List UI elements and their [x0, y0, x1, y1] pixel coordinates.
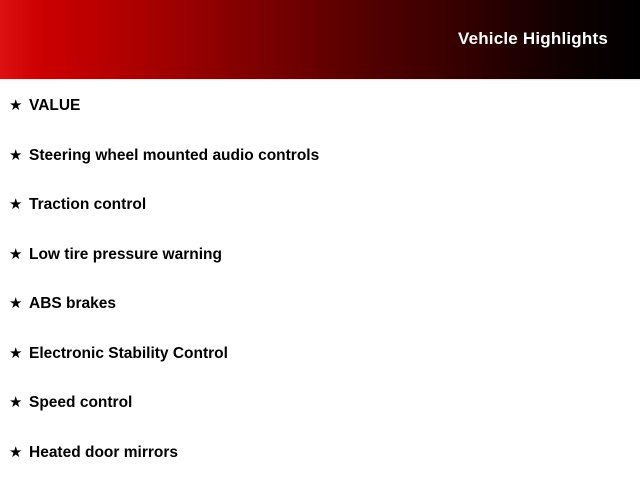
highlight-label: Electronic Stability Control	[29, 345, 228, 363]
highlight-label: Heated door mirrors	[29, 444, 178, 462]
highlight-label: VALUE	[29, 97, 80, 115]
star-bullet-icon: ★	[9, 394, 29, 412]
highlight-label: Low tire pressure warning	[29, 246, 222, 264]
list-item: ★ ABS brakes	[0, 295, 640, 345]
star-bullet-icon: ★	[9, 345, 29, 363]
list-item: ★ VALUE	[0, 81, 640, 147]
list-item: ★ Steering wheel mounted audio controls	[0, 147, 640, 197]
star-bullet-icon: ★	[9, 97, 29, 115]
vehicle-highlights-list: ★ VALUE ★ Steering wheel mounted audio c…	[0, 81, 640, 493]
highlight-label: Steering wheel mounted audio controls	[29, 147, 319, 165]
star-bullet-icon: ★	[9, 444, 29, 462]
highlight-label: Speed control	[29, 394, 132, 412]
highlight-label: Traction control	[29, 196, 146, 214]
star-bullet-icon: ★	[9, 295, 29, 313]
highlight-label: ABS brakes	[29, 295, 116, 313]
list-item: ★ Traction control	[0, 196, 640, 246]
list-item: ★ Speed control	[0, 394, 640, 444]
star-bullet-icon: ★	[9, 147, 29, 165]
page-title: Vehicle Highlights	[458, 28, 608, 50]
star-bullet-icon: ★	[9, 196, 29, 214]
list-item: ★ Heated door mirrors	[0, 444, 640, 493]
star-bullet-icon: ★	[9, 246, 29, 264]
header-banner: Vehicle Highlights	[0, 0, 640, 79]
list-item: ★ Electronic Stability Control	[0, 345, 640, 395]
vehicle-highlights-page: Vehicle Highlights ★ VALUE ★ Steering wh…	[0, 0, 640, 480]
list-item: ★ Low tire pressure warning	[0, 246, 640, 296]
